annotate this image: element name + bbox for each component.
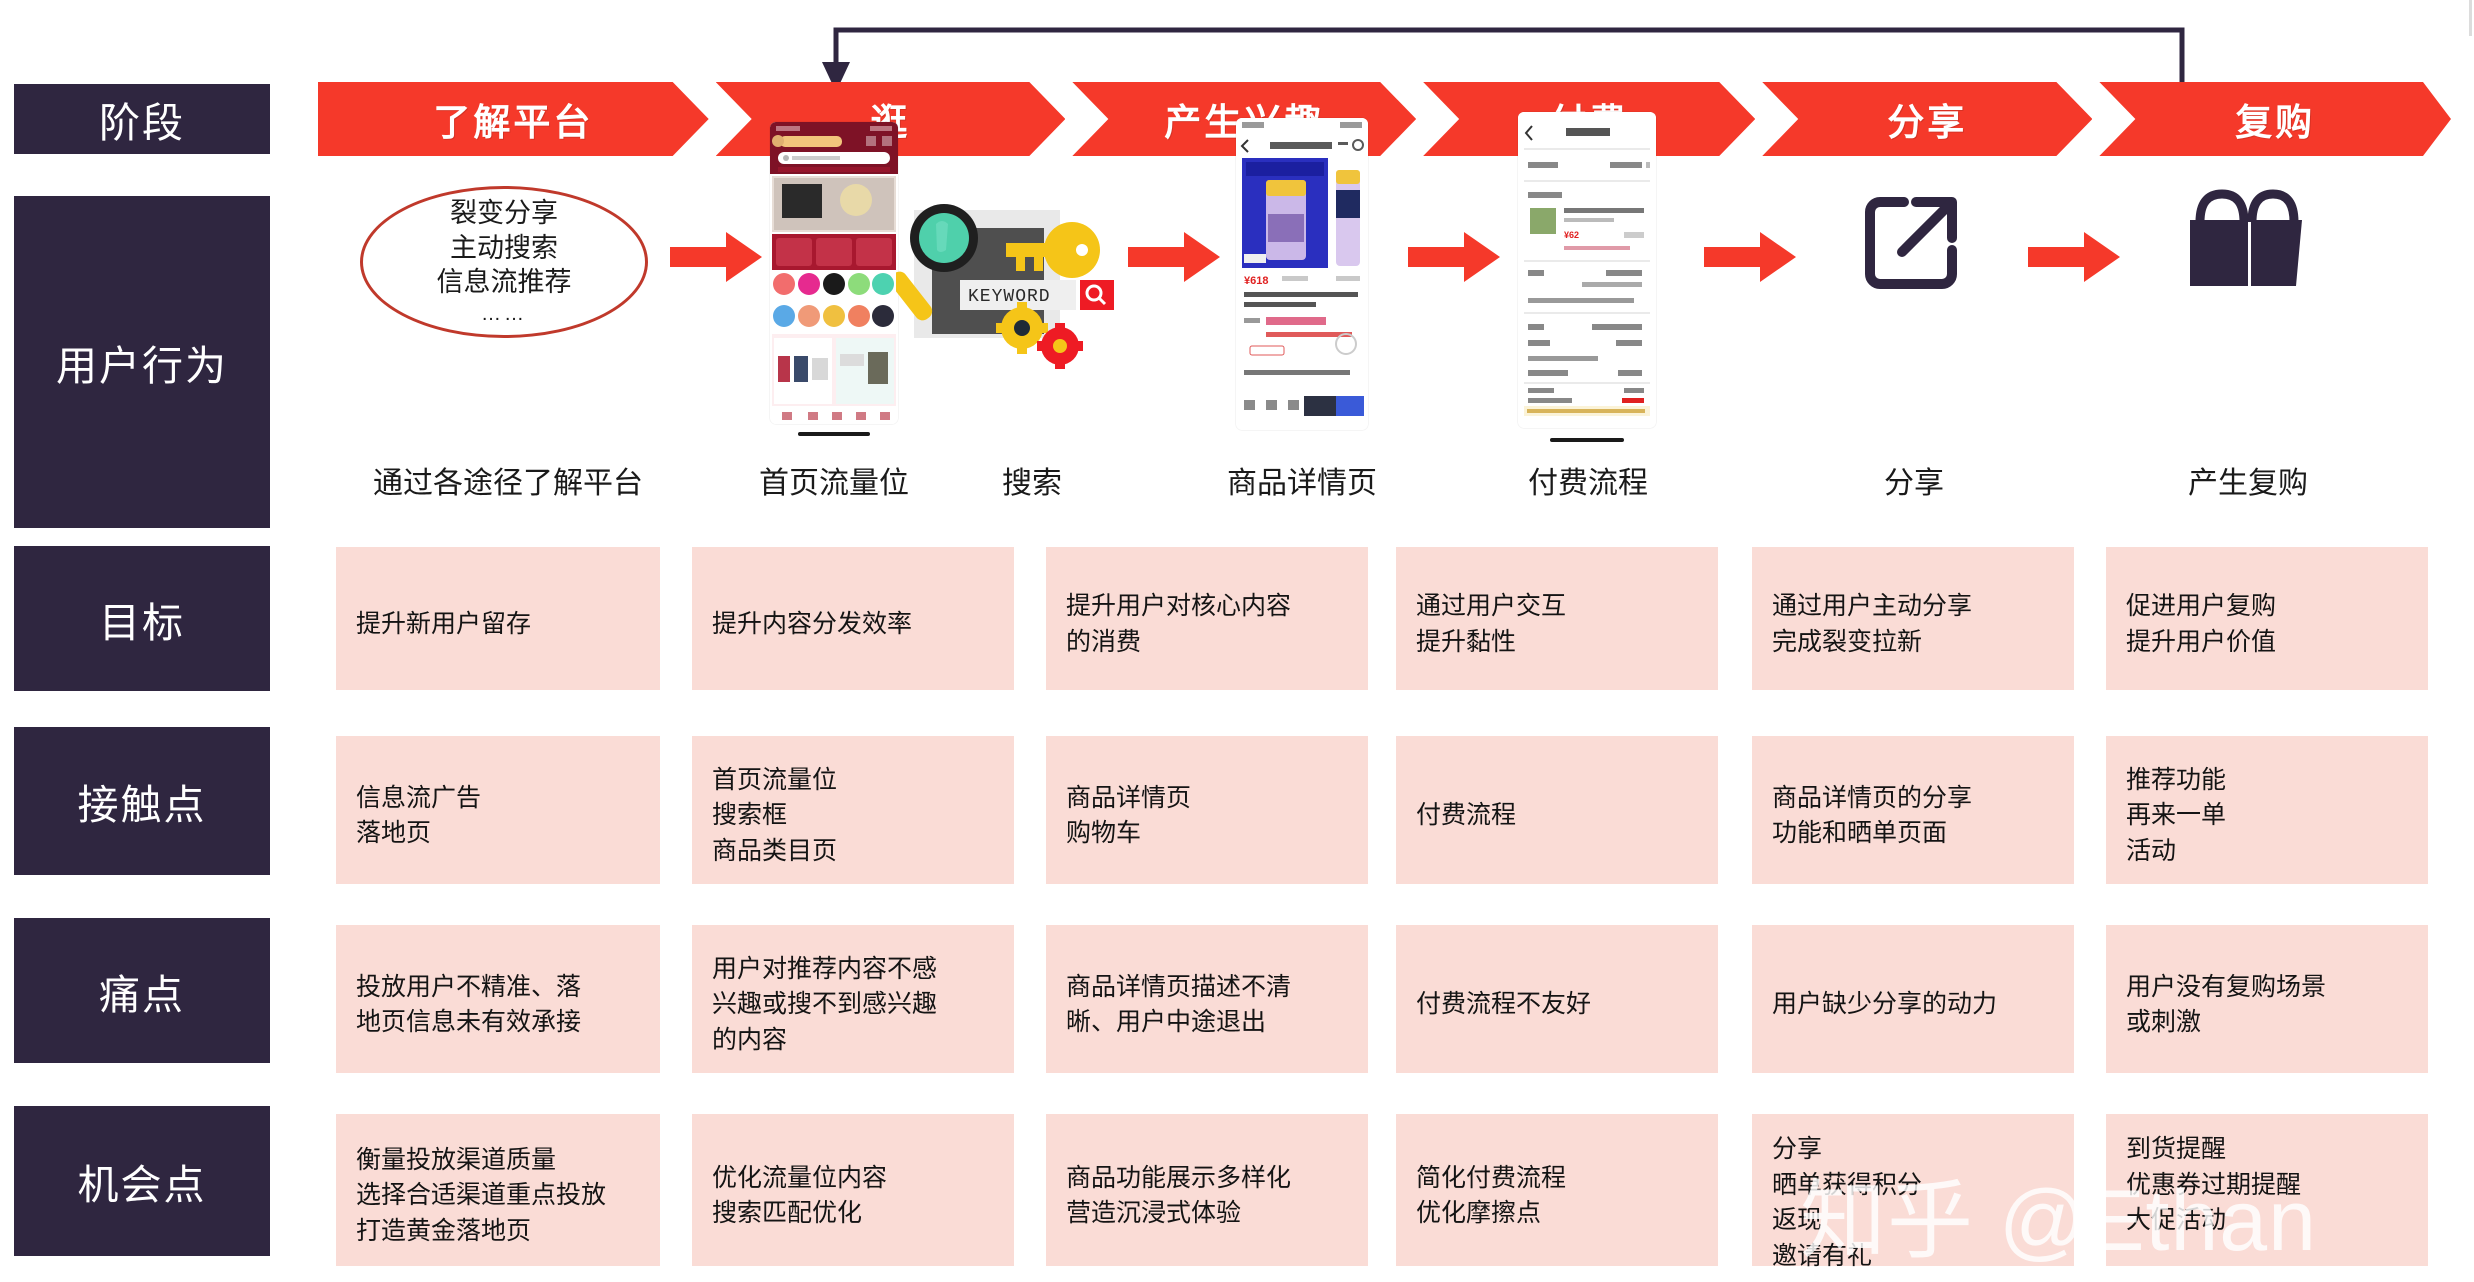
behavior-caption-3: 商品详情页 [1162, 458, 1442, 502]
svg-text:¥618: ¥618 [1244, 275, 1268, 287]
user-behavior-row: 裂变分享 主动搜索 信息流推荐 …… [318, 170, 2474, 530]
search-keyword-text: KEYWORD [968, 287, 1051, 307]
svg-text:¥62: ¥62 [1564, 230, 1579, 240]
opportunity-cell-1: 优化流量位内容 搜索匹配优化 [692, 1114, 1014, 1266]
flow-arrow-4 [1704, 232, 1796, 282]
row-label-text: 用户行为 [56, 332, 228, 392]
magnifier-key-gears-icon: KEYWORD [896, 194, 1116, 379]
opportunity-cell-2: 商品功能展示多样化 营造沉浸式体验 [1046, 1114, 1368, 1266]
painpoint-cell-1: 用户对推荐内容不感 兴趣或搜不到感兴趣 的内容 [692, 925, 1014, 1073]
touchpoint-cell-3: 付费流程 [1396, 736, 1718, 884]
row-label-text: 机会点 [78, 1151, 207, 1211]
flow-arrow-3 [1408, 232, 1500, 282]
stage-label: 了解平台 [433, 92, 593, 146]
touchpoint-cell-1: 首页流量位 搜索框 商品类目页 [692, 736, 1014, 884]
goal-cell-2: 提升用户对核心内容 的消费 [1046, 547, 1368, 690]
right-edge-tick [2469, 0, 2472, 36]
bubble-ellipsis: …… [481, 302, 527, 328]
row-label-text: 目标 [99, 589, 185, 649]
row-label-painpoint: 痛点 [14, 918, 270, 1063]
touchpoint-cell-4: 商品详情页的分享 功能和晒单页面 [1752, 736, 2074, 884]
goal-cell-1: 提升内容分发效率 [692, 547, 1014, 690]
behavior-caption-5: 分享 [1816, 458, 2012, 502]
row-label-goal: 目标 [14, 546, 270, 691]
flow-arrow-1 [670, 232, 762, 282]
painpoint-cell-4: 用户缺少分享的动力 [1752, 925, 2074, 1073]
goal-cell-0: 提升新用户留存 [336, 547, 660, 690]
row-label-text: 痛点 [99, 961, 185, 1021]
phone-mock-checkout: ¥62 [1518, 112, 1656, 428]
touchpoint-cell-2: 商品详情页 购物车 [1046, 736, 1368, 884]
painpoint-cell-3: 付费流程不友好 [1396, 925, 1718, 1073]
row-label-touchpoint: 接触点 [14, 727, 270, 875]
row-label-stage: 阶段 [14, 84, 270, 154]
behavior-caption-0: 通过各途径了解平台 [298, 458, 718, 502]
phone-mock-homepage [770, 122, 898, 424]
stage-label: 复购 [2235, 92, 2315, 146]
behavior-caption-2: 搜索 [962, 458, 1102, 502]
behavior-caption-1: 首页流量位 [714, 458, 954, 502]
behavior-caption-6: 产生复购 [2126, 458, 2370, 502]
behavior-bubble: 裂变分享 主动搜索 信息流推荐 …… [360, 186, 648, 338]
opportunity-cell-4: 分享 晒单获得积分 返现 邀请有礼 [1752, 1114, 2074, 1266]
stage-chevron-strip: 了解平台 逛 产生兴趣 付费 分享 复购 [318, 82, 2458, 156]
stage-chevron-5[interactable]: 复购 [2099, 82, 2451, 156]
behavior-caption-4: 付费流程 [1438, 458, 1738, 502]
goal-cell-4: 通过用户主动分享 完成裂变拉新 [1752, 547, 2074, 690]
stage-chevron-0[interactable]: 了解平台 [318, 82, 709, 156]
shopping-bags-icon [2182, 178, 2312, 301]
row-label-opportunity: 机会点 [14, 1106, 270, 1256]
journey-map-canvas: 阶段 用户行为 目标 接触点 痛点 机会点 了解平台 逛 产生兴趣 付费 分享 … [0, 0, 2474, 1282]
opportunity-cell-0: 衡量投放渠道质量 选择合适渠道重点投放 打造黄金落地页 [336, 1114, 660, 1266]
phone-mock-product-detail: ¥618 [1236, 118, 1368, 430]
row-label-text: 接触点 [78, 771, 207, 831]
goal-cell-5: 促进用户复购 提升用户价值 [2106, 547, 2428, 690]
painpoint-cell-0: 投放用户不精准、落 地页信息未有效承接 [336, 925, 660, 1073]
row-label-behavior: 用户行为 [14, 196, 270, 528]
painpoint-cell-5: 用户没有复购场景 或刺激 [2106, 925, 2428, 1073]
phone-home-indicator-2 [1550, 438, 1624, 442]
phone-home-indicator [798, 432, 870, 436]
stage-chevron-4[interactable]: 分享 [1762, 82, 2092, 156]
flow-arrow-5 [2028, 232, 2120, 282]
touchpoint-cell-5: 推荐功能 再来一单 活动 [2106, 736, 2428, 884]
flow-arrow-2 [1128, 232, 1220, 282]
touchpoint-cell-0: 信息流广告 落地页 [336, 736, 660, 884]
opportunity-cell-3: 简化付费流程 优化摩擦点 [1396, 1114, 1718, 1266]
stage-label: 分享 [1887, 92, 1967, 146]
row-label-text: 阶段 [99, 89, 185, 149]
painpoint-cell-2: 商品详情页描述不清 晰、用户中途退出 [1046, 925, 1368, 1073]
opportunity-cell-5: 到货提醒 优惠券过期提醒 大促活动 [2106, 1114, 2428, 1266]
goal-cell-3: 通过用户交互 提升黏性 [1396, 547, 1718, 690]
bubble-line-0: 裂变分享 [450, 196, 558, 231]
bubble-line-1: 主动搜索 [450, 231, 558, 266]
bubble-line-2: 信息流推荐 [437, 265, 572, 300]
external-link-icon [1858, 188, 1966, 301]
